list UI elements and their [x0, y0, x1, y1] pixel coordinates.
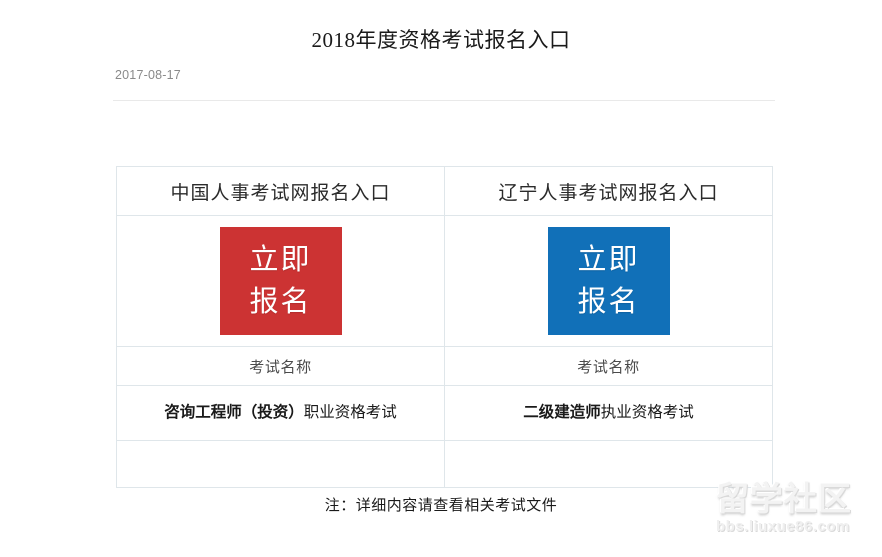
exam-name-china-rest: 职业资格考试	[304, 404, 397, 421]
signup-button-line1-china: 立即	[249, 239, 311, 281]
table-row-buttons: 立即 报名 立即 报名	[117, 216, 773, 347]
signup-now-button-china[interactable]: 立即 报名	[220, 227, 342, 335]
exam-name-liaoning-rest: 执业资格考试	[601, 404, 694, 421]
signup-button-line1-liaoning: 立即	[577, 239, 639, 281]
empty-cell-china	[117, 441, 445, 488]
table-row-empty	[117, 441, 773, 488]
column-header-liaoning: 辽宁人事考试网报名入口	[445, 167, 773, 216]
table-row-exam-names: 咨询工程师（投资）职业资格考试 二级建造师执业资格考试	[117, 386, 773, 441]
footer-note: 注：详细内容请查看相关考试文件	[0, 494, 882, 515]
exam-name-label-liaoning: 考试名称	[445, 347, 773, 386]
exam-name-label-china: 考试名称	[117, 347, 445, 386]
table-row-headers: 中国人事考试网报名入口 辽宁人事考试网报名入口	[117, 167, 773, 216]
publish-date: 2017-08-17	[115, 68, 181, 82]
exam-name-china-strong: 咨询工程师（投资）	[164, 404, 304, 421]
exam-name-liaoning: 二级建造师执业资格考试	[445, 386, 773, 441]
empty-cell-liaoning	[445, 441, 773, 488]
watermark-site-url: bbs.liuxue86.com	[716, 519, 876, 534]
registration-entry-table: 中国人事考试网报名入口 辽宁人事考试网报名入口 立即 报名 立即 报名	[116, 166, 773, 488]
column-header-china: 中国人事考试网报名入口	[117, 167, 445, 216]
signup-button-line2-liaoning: 报名	[577, 281, 639, 323]
button-cell-liaoning: 立即 报名	[445, 216, 773, 347]
exam-name-liaoning-strong: 二级建造师	[523, 404, 601, 421]
table-row-labels: 考试名称 考试名称	[117, 347, 773, 386]
header-divider	[113, 100, 775, 101]
signup-now-button-liaoning[interactable]: 立即 报名	[548, 227, 670, 335]
button-cell-china: 立即 报名	[117, 216, 445, 347]
signup-button-line2-china: 报名	[249, 281, 311, 323]
page-title: 2018年度资格考试报名入口	[0, 24, 882, 54]
page-root: 2018年度资格考试报名入口 2017-08-17 中国人事考试网报名入口 辽宁…	[0, 0, 882, 557]
exam-name-china: 咨询工程师（投资）职业资格考试	[117, 386, 445, 441]
